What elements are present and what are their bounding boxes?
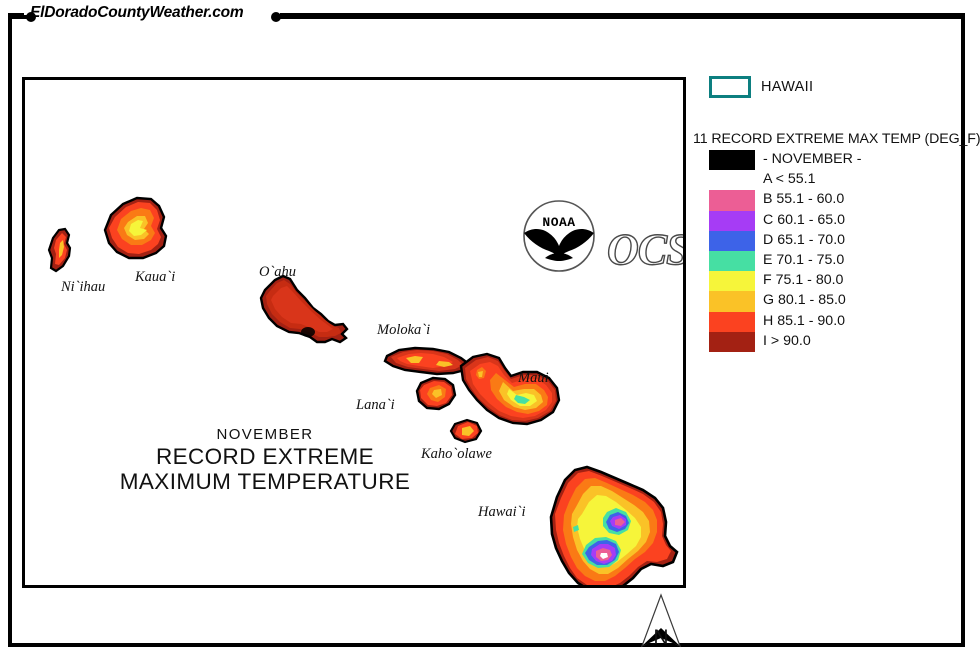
legend-row: I > 90.0 xyxy=(693,332,963,352)
legend-swatch xyxy=(709,332,755,352)
noaa-logo-icon: NOAA xyxy=(519,196,599,278)
map-legend: HAWAII 11 RECORD EXTREME MAX TEMP (DEG_F… xyxy=(693,74,963,104)
island-kahoolawe xyxy=(451,420,481,442)
map-caption: NOVEMBER RECORD EXTREME MAXIMUM TEMPERAT… xyxy=(85,425,445,494)
legend-label: H 85.1 - 90.0 xyxy=(763,313,845,329)
legend-row: E 70.1 - 75.0 xyxy=(693,251,963,271)
site-title: ElDoradoCountyWeather.com xyxy=(30,4,243,22)
legend-row: G 80.1 - 85.0 xyxy=(693,291,963,311)
legend-hawaii-label: HAWAII xyxy=(761,79,813,95)
legend-hawaii-row: HAWAII xyxy=(693,74,963,104)
island-label-molokai: Moloka`i xyxy=(377,322,430,339)
island-lanai xyxy=(417,378,455,409)
legend-row: D 65.1 - 70.0 xyxy=(693,231,963,251)
svg-text:OCS: OCS xyxy=(607,225,686,274)
legend-swatch xyxy=(709,150,755,170)
legend-swatch xyxy=(709,251,755,271)
legend-label: E 70.1 - 75.0 xyxy=(763,252,844,268)
island-kauai xyxy=(105,198,166,258)
island-molokai xyxy=(385,348,469,374)
caption-line-2: MAXIMUM TEMPERATURE xyxy=(85,469,445,494)
island-label-oahu: O`ahu xyxy=(259,264,296,281)
title-rule-right xyxy=(275,15,961,19)
legend-row: C 60.1 - 65.0 xyxy=(693,211,963,231)
ocs-wordmark: OCS xyxy=(603,218,686,276)
map-frame: Ni`ihau Kaua`i O`ahu Moloka`i Lana`i Mau… xyxy=(22,77,686,588)
island-label-lanai: Lana`i xyxy=(356,397,395,414)
legend-row: B 55.1 - 60.0 xyxy=(693,190,963,210)
legend-label: F 75.1 - 80.0 xyxy=(763,272,843,288)
island-niihau xyxy=(49,229,70,271)
island-oahu xyxy=(261,276,347,342)
island-label-hawaii: Hawai`i xyxy=(478,504,526,521)
caption-line-1: RECORD EXTREME xyxy=(85,444,445,469)
hawaii-islands-map xyxy=(25,80,683,585)
legend-row: F 75.1 - 80.0 xyxy=(693,271,963,291)
title-rule-right-cap xyxy=(271,12,281,22)
legend-swatch xyxy=(709,170,755,190)
legend-label: D 65.1 - 70.0 xyxy=(763,232,845,248)
legend-label: G 80.1 - 85.0 xyxy=(763,292,846,308)
legend-swatch xyxy=(709,291,755,311)
island-label-kauai: Kaua`i xyxy=(135,269,175,286)
legend-hawaii-swatch xyxy=(709,76,751,98)
legend-row: A < 55.1 xyxy=(693,170,963,190)
island-label-maui: Maui xyxy=(518,370,549,387)
island-hawaii xyxy=(551,467,677,585)
island-maui xyxy=(461,354,559,424)
legend-label: B 55.1 - 60.0 xyxy=(763,191,844,207)
legend-class-list: - NOVEMBER - A < 55.1 B 55.1 - 60.0 C 60… xyxy=(693,150,963,352)
north-label: N xyxy=(636,626,686,650)
legend-swatch xyxy=(709,312,755,332)
legend-row: H 85.1 - 90.0 xyxy=(693,312,963,332)
legend-swatch xyxy=(709,271,755,291)
noaa-wordmark: NOAA xyxy=(542,215,575,230)
legend-swatch xyxy=(709,190,755,210)
caption-month: NOVEMBER xyxy=(85,425,445,444)
island-label-niihau: Ni`ihau xyxy=(61,279,105,296)
legend-swatch xyxy=(709,211,755,231)
legend-row: - NOVEMBER - xyxy=(693,150,963,170)
legend-swatch xyxy=(709,231,755,251)
legend-title: 11 RECORD EXTREME MAX TEMP (DEG_F) xyxy=(693,131,965,147)
legend-label: - NOVEMBER - xyxy=(763,151,862,167)
legend-label: A < 55.1 xyxy=(763,171,815,187)
legend-label: C 60.1 - 65.0 xyxy=(763,212,845,228)
legend-label: I > 90.0 xyxy=(763,333,811,349)
